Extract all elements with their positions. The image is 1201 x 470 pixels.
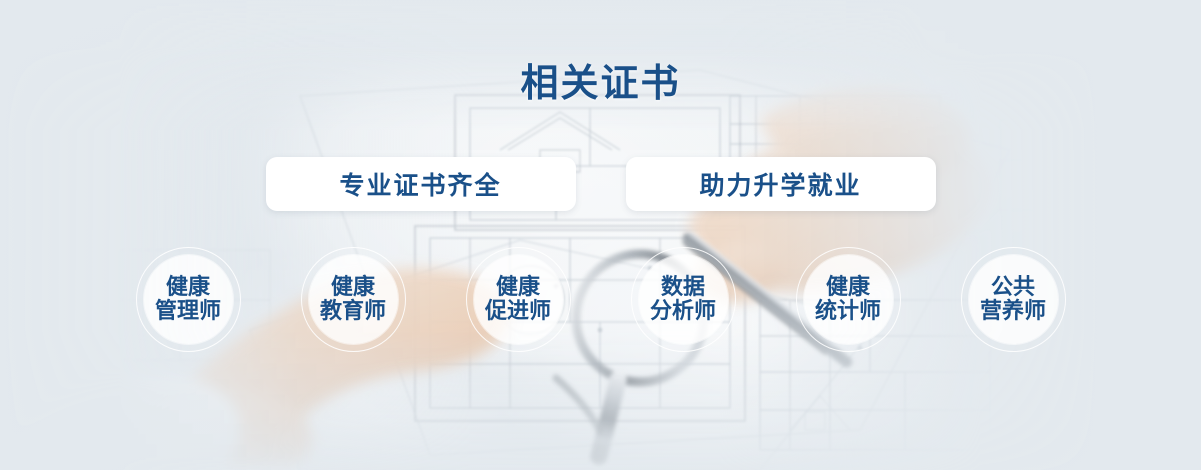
certificate-badge-inner: 健康 管理师: [144, 255, 233, 344]
certificate-badge-line1: 数据: [661, 276, 705, 300]
certificate-badge-line2: 统计师: [815, 300, 881, 324]
certificate-badge-line1: 公共: [991, 276, 1035, 300]
certificate-badge-row: 健康 管理师 健康 教育师 健康 促进师 数据 分析师: [0, 247, 1201, 352]
certificate-badge-line2: 分析师: [650, 300, 716, 324]
highlight-pill-career[interactable]: 助力升学就业: [626, 157, 936, 211]
certificate-badge-inner: 数据 分析师: [639, 255, 728, 344]
certificate-badge-line1: 健康: [826, 276, 870, 300]
certificate-badge-health-educator[interactable]: 健康 教育师: [301, 247, 406, 352]
certificate-badge-data-analyst[interactable]: 数据 分析师: [631, 247, 736, 352]
certificate-badge-line2: 营养师: [980, 300, 1046, 324]
certificate-badge-health-promoter[interactable]: 健康 促进师: [466, 247, 571, 352]
certificate-badge-line2: 教育师: [320, 300, 386, 324]
certificate-badge-inner: 健康 促进师: [474, 255, 563, 344]
certificate-badge-line2: 管理师: [155, 300, 221, 324]
certificate-badge-inner: 健康 统计师: [804, 255, 893, 344]
certificate-badge-health-manager[interactable]: 健康 管理师: [136, 247, 241, 352]
certificates-banner: 相关证书 专业证书齐全 助力升学就业 健康 管理师 健康 教育师 健康: [0, 0, 1201, 470]
certificate-badge-line1: 健康: [166, 276, 210, 300]
highlight-pill-certificates[interactable]: 专业证书齐全: [266, 157, 576, 211]
certificate-badge-line1: 健康: [496, 276, 540, 300]
certificate-badge-line2: 促进师: [485, 300, 551, 324]
certificate-badge-public-nutritionist[interactable]: 公共 营养师: [961, 247, 1066, 352]
certificate-badge-inner: 健康 教育师: [309, 255, 398, 344]
certificate-badge-line1: 健康: [331, 276, 375, 300]
page-title: 相关证书: [0, 52, 1201, 107]
highlight-pill-row: 专业证书齐全 助力升学就业: [0, 157, 1201, 211]
banner-content: 相关证书 专业证书齐全 助力升学就业 健康 管理师 健康 教育师 健康: [0, 0, 1201, 470]
certificate-badge-health-statistician[interactable]: 健康 统计师: [796, 247, 901, 352]
certificate-badge-inner: 公共 营养师: [969, 255, 1058, 344]
